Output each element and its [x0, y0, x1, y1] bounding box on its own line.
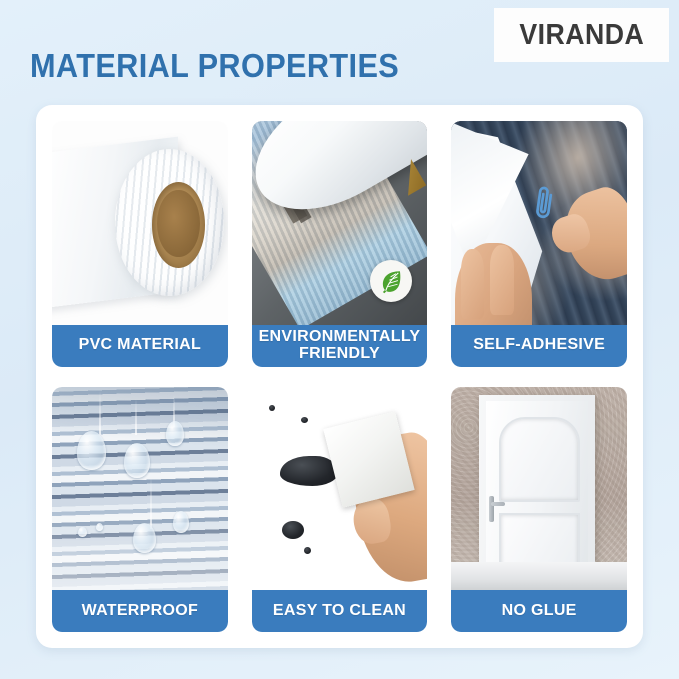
no-glue-door-photo — [451, 387, 627, 591]
brand-badge: VIRANDA — [494, 8, 669, 62]
water-droplet-4 — [133, 523, 156, 554]
water-droplet-1 — [77, 431, 107, 470]
feature-tile-no-glue[interactable]: NO GLUE — [451, 387, 627, 633]
pvc-roll-photo — [52, 121, 228, 325]
feature-label-easy-to-clean: EASY TO CLEAN — [252, 590, 428, 632]
feature-card: PVC MATERIAL ENVIRONMENTALLY FRIENDLY — [36, 105, 643, 648]
brand-name: VIRANDA — [519, 19, 644, 52]
eco-badge — [370, 260, 412, 302]
floor-skirting — [451, 562, 627, 590]
feature-tile-pvc-material[interactable]: PVC MATERIAL — [52, 121, 228, 367]
water-droplet-2 — [124, 443, 150, 478]
stain-small-3 — [301, 417, 308, 423]
water-droplet-5 — [173, 511, 189, 533]
water-droplet-3 — [166, 421, 184, 445]
feature-tile-easy-to-clean[interactable]: EASY TO CLEAN — [252, 387, 428, 633]
feature-label-no-glue: NO GLUE — [451, 590, 627, 632]
stain-large — [280, 456, 338, 487]
feature-label-pvc-material: PVC MATERIAL — [52, 325, 228, 367]
eco-roll-photo — [252, 121, 428, 325]
feature-label-environmentally-friendly: ENVIRONMENTALLY FRIENDLY — [252, 325, 428, 367]
feature-tile-environmentally-friendly[interactable]: ENVIRONMENTALLY FRIENDLY — [252, 121, 428, 367]
feature-grid: PVC MATERIAL ENVIRONMENTALLY FRIENDLY — [52, 121, 627, 632]
easy-to-clean-photo — [252, 387, 428, 591]
door-handle — [489, 496, 494, 522]
water-droplet-6 — [78, 527, 87, 537]
paperclip-icon — [526, 180, 562, 228]
feature-tile-self-adhesive[interactable]: SELF-ADHESIVE — [451, 121, 627, 367]
feature-label-self-adhesive: SELF-ADHESIVE — [451, 325, 627, 367]
feature-label-waterproof: WATERPROOF — [52, 590, 228, 632]
page-title: MATERIAL PROPERTIES — [30, 47, 399, 85]
pvc-core-inner-shape — [157, 190, 199, 257]
droplet-trail-1 — [99, 391, 101, 436]
surface-shading — [52, 387, 228, 591]
droplet-trail-4 — [150, 476, 152, 529]
water-droplet-7 — [96, 523, 103, 531]
feature-tile-waterproof[interactable]: WATERPROOF — [52, 387, 228, 633]
leaf-icon — [378, 268, 404, 294]
self-adhesive-photo — [451, 121, 627, 325]
door-panel-top — [499, 417, 580, 502]
droplet-trail-2 — [135, 399, 137, 436]
waterproof-photo — [52, 387, 228, 591]
